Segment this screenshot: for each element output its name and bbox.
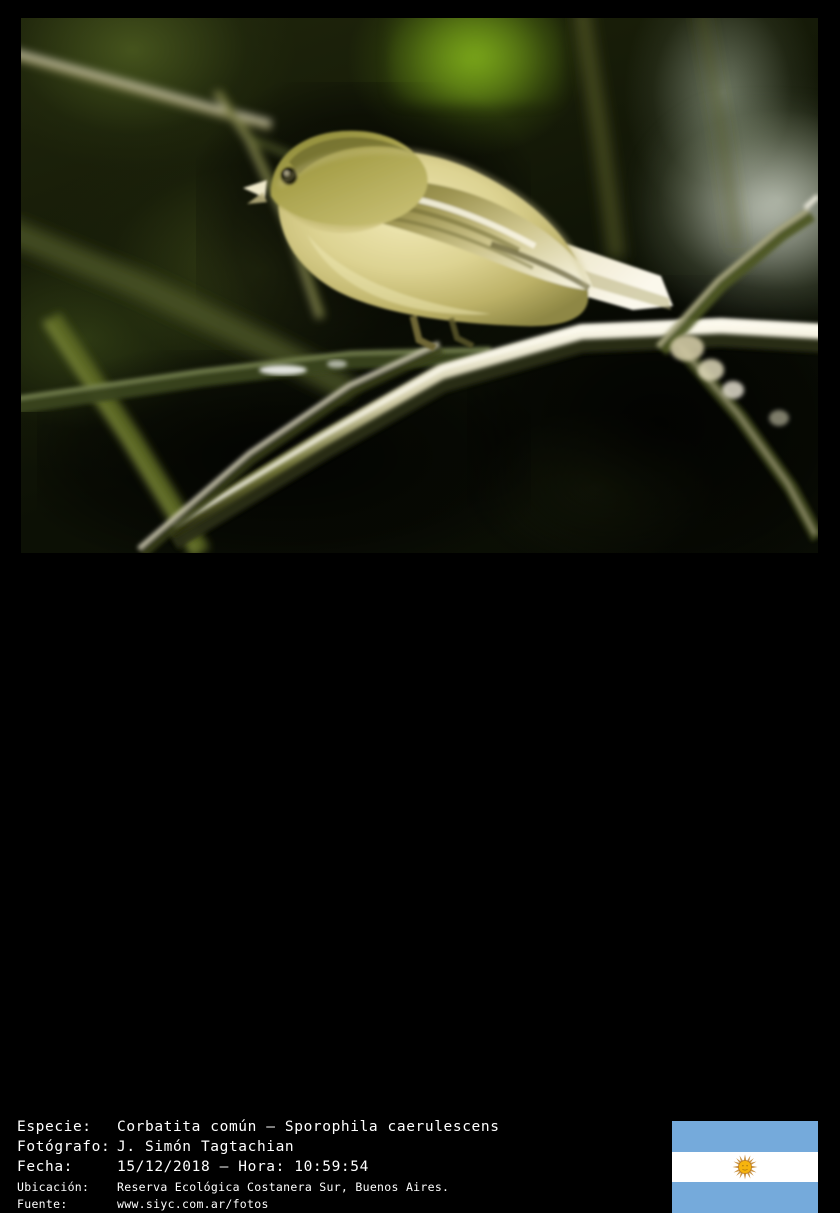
caption-label-fecha: Fecha: <box>17 1159 117 1175</box>
bird-leg-front <box>413 316 435 348</box>
caption-value-fuente[interactable]: www.siyc.com.ar/fotos <box>117 1197 269 1211</box>
caption-value-fotografo: J. Simón Tagtachian <box>117 1139 294 1155</box>
bird-photograph <box>21 18 818 553</box>
caption-label-ubicacion: Ubicación: <box>17 1180 117 1194</box>
caption-row-fuente: Fuente:www.siyc.com.ar/fotos <box>17 1197 269 1211</box>
bird-sporophila-caerulescens <box>21 18 818 553</box>
caption-row-fecha: Fecha:15/12/2018 — Hora: 10:59:54 <box>17 1159 369 1175</box>
flag-band-top <box>672 1121 818 1152</box>
caption-row-fotografo: Fotógrafo:J. Simón Tagtachian <box>17 1139 294 1155</box>
flag-band-bottom <box>672 1182 818 1213</box>
argentina-flag-icon <box>672 1121 818 1213</box>
caption-panel: Especie:Corbatita común — Sporophila cae… <box>0 553 840 668</box>
caption-value-ubicacion: Reserva Ecológica Costanera Sur, Buenos … <box>117 1180 449 1194</box>
caption-row-especie: Especie:Corbatita común — Sporophila cae… <box>17 1119 500 1135</box>
caption-label-especie: Especie: <box>17 1119 117 1135</box>
caption-row-ubicacion: Ubicación:Reserva Ecológica Costanera Su… <box>17 1180 449 1194</box>
photo-caption-card: Especie:Corbatita común — Sporophila cae… <box>0 0 840 668</box>
sun-of-may-icon <box>732 1154 758 1180</box>
photo-canvas <box>21 18 818 553</box>
caption-label-fotografo: Fotógrafo: <box>17 1139 117 1155</box>
caption-value-especie: Corbatita común — Sporophila caerulescen… <box>117 1119 500 1135</box>
caption-label-fuente: Fuente: <box>17 1197 117 1211</box>
caption-value-fecha: 15/12/2018 — Hora: 10:59:54 <box>117 1159 369 1175</box>
